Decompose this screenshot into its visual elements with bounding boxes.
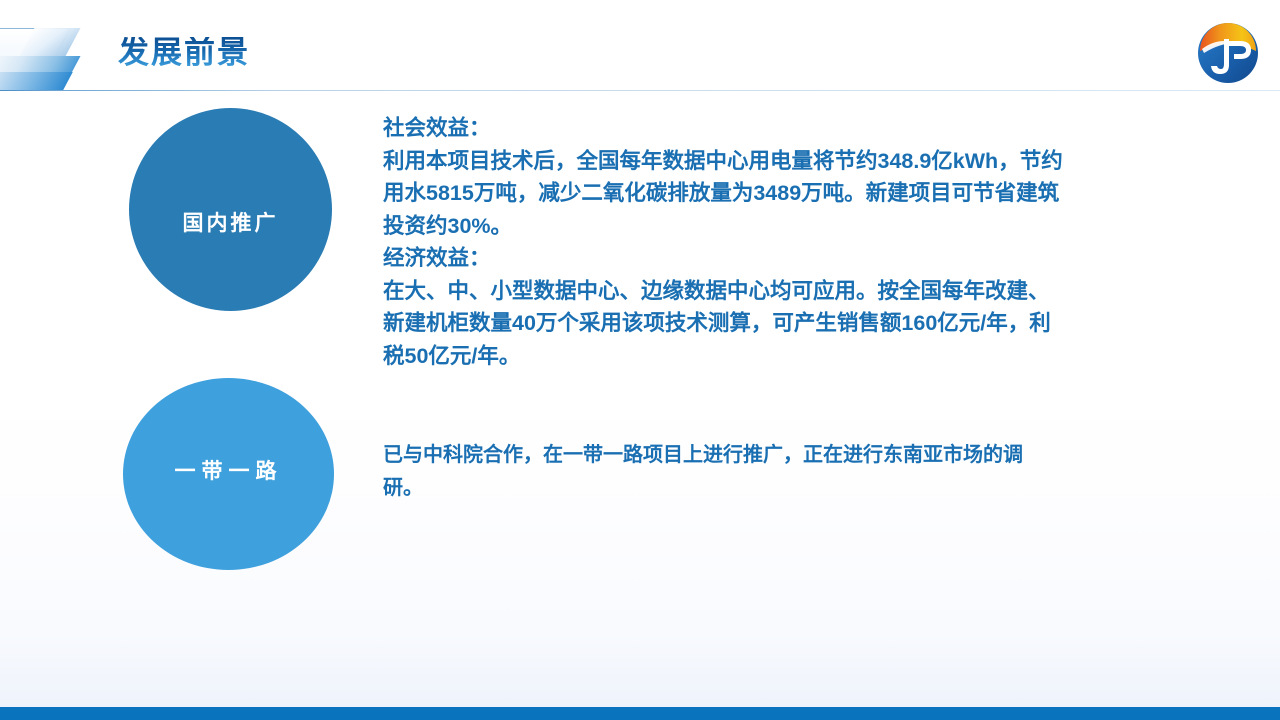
page-title: 发展前景 xyxy=(118,37,250,68)
social-benefit-heading: 社会效益： xyxy=(383,112,1063,145)
circle-label-belt-and-road: 一带一路 xyxy=(175,455,283,485)
header-decoration-bar-lower xyxy=(0,72,73,90)
social-benefit-body: 利用本项目技术后，全国每年数据中心用电量将节约348.9亿kWh，节约用水581… xyxy=(383,145,1063,243)
slide-canvas: 发展前景 xyxy=(0,0,1280,720)
circle-badge-belt-and-road: 一带一路 xyxy=(123,378,334,570)
belt-and-road-text-block: 已与中科院合作，在一带一路项目上进行推广，正在进行东南亚市场的调研。 xyxy=(383,439,1043,505)
economic-benefit-heading: 经济效益： xyxy=(383,242,1063,275)
circle-label-domestic-promotion: 国内推广 xyxy=(183,207,279,237)
slide-header: 发展前景 xyxy=(0,0,1280,91)
company-logo xyxy=(1196,21,1260,85)
footer-accent-bar xyxy=(0,707,1280,720)
economic-benefit-body: 在大、中、小型数据中心、边缘数据中心均可应用。按全国每年改建、新建机柜数量40万… xyxy=(383,275,1063,373)
header-divider-line xyxy=(0,90,1280,91)
belt-and-road-body: 已与中科院合作，在一带一路项目上进行推广，正在进行东南亚市场的调研。 xyxy=(383,439,1043,505)
benefits-text-block: 社会效益： 利用本项目技术后，全国每年数据中心用电量将节约348.9亿kWh，节… xyxy=(383,112,1063,372)
circle-badge-domestic-promotion: 国内推广 xyxy=(129,108,332,311)
header-decoration-bar-upper xyxy=(0,56,81,73)
